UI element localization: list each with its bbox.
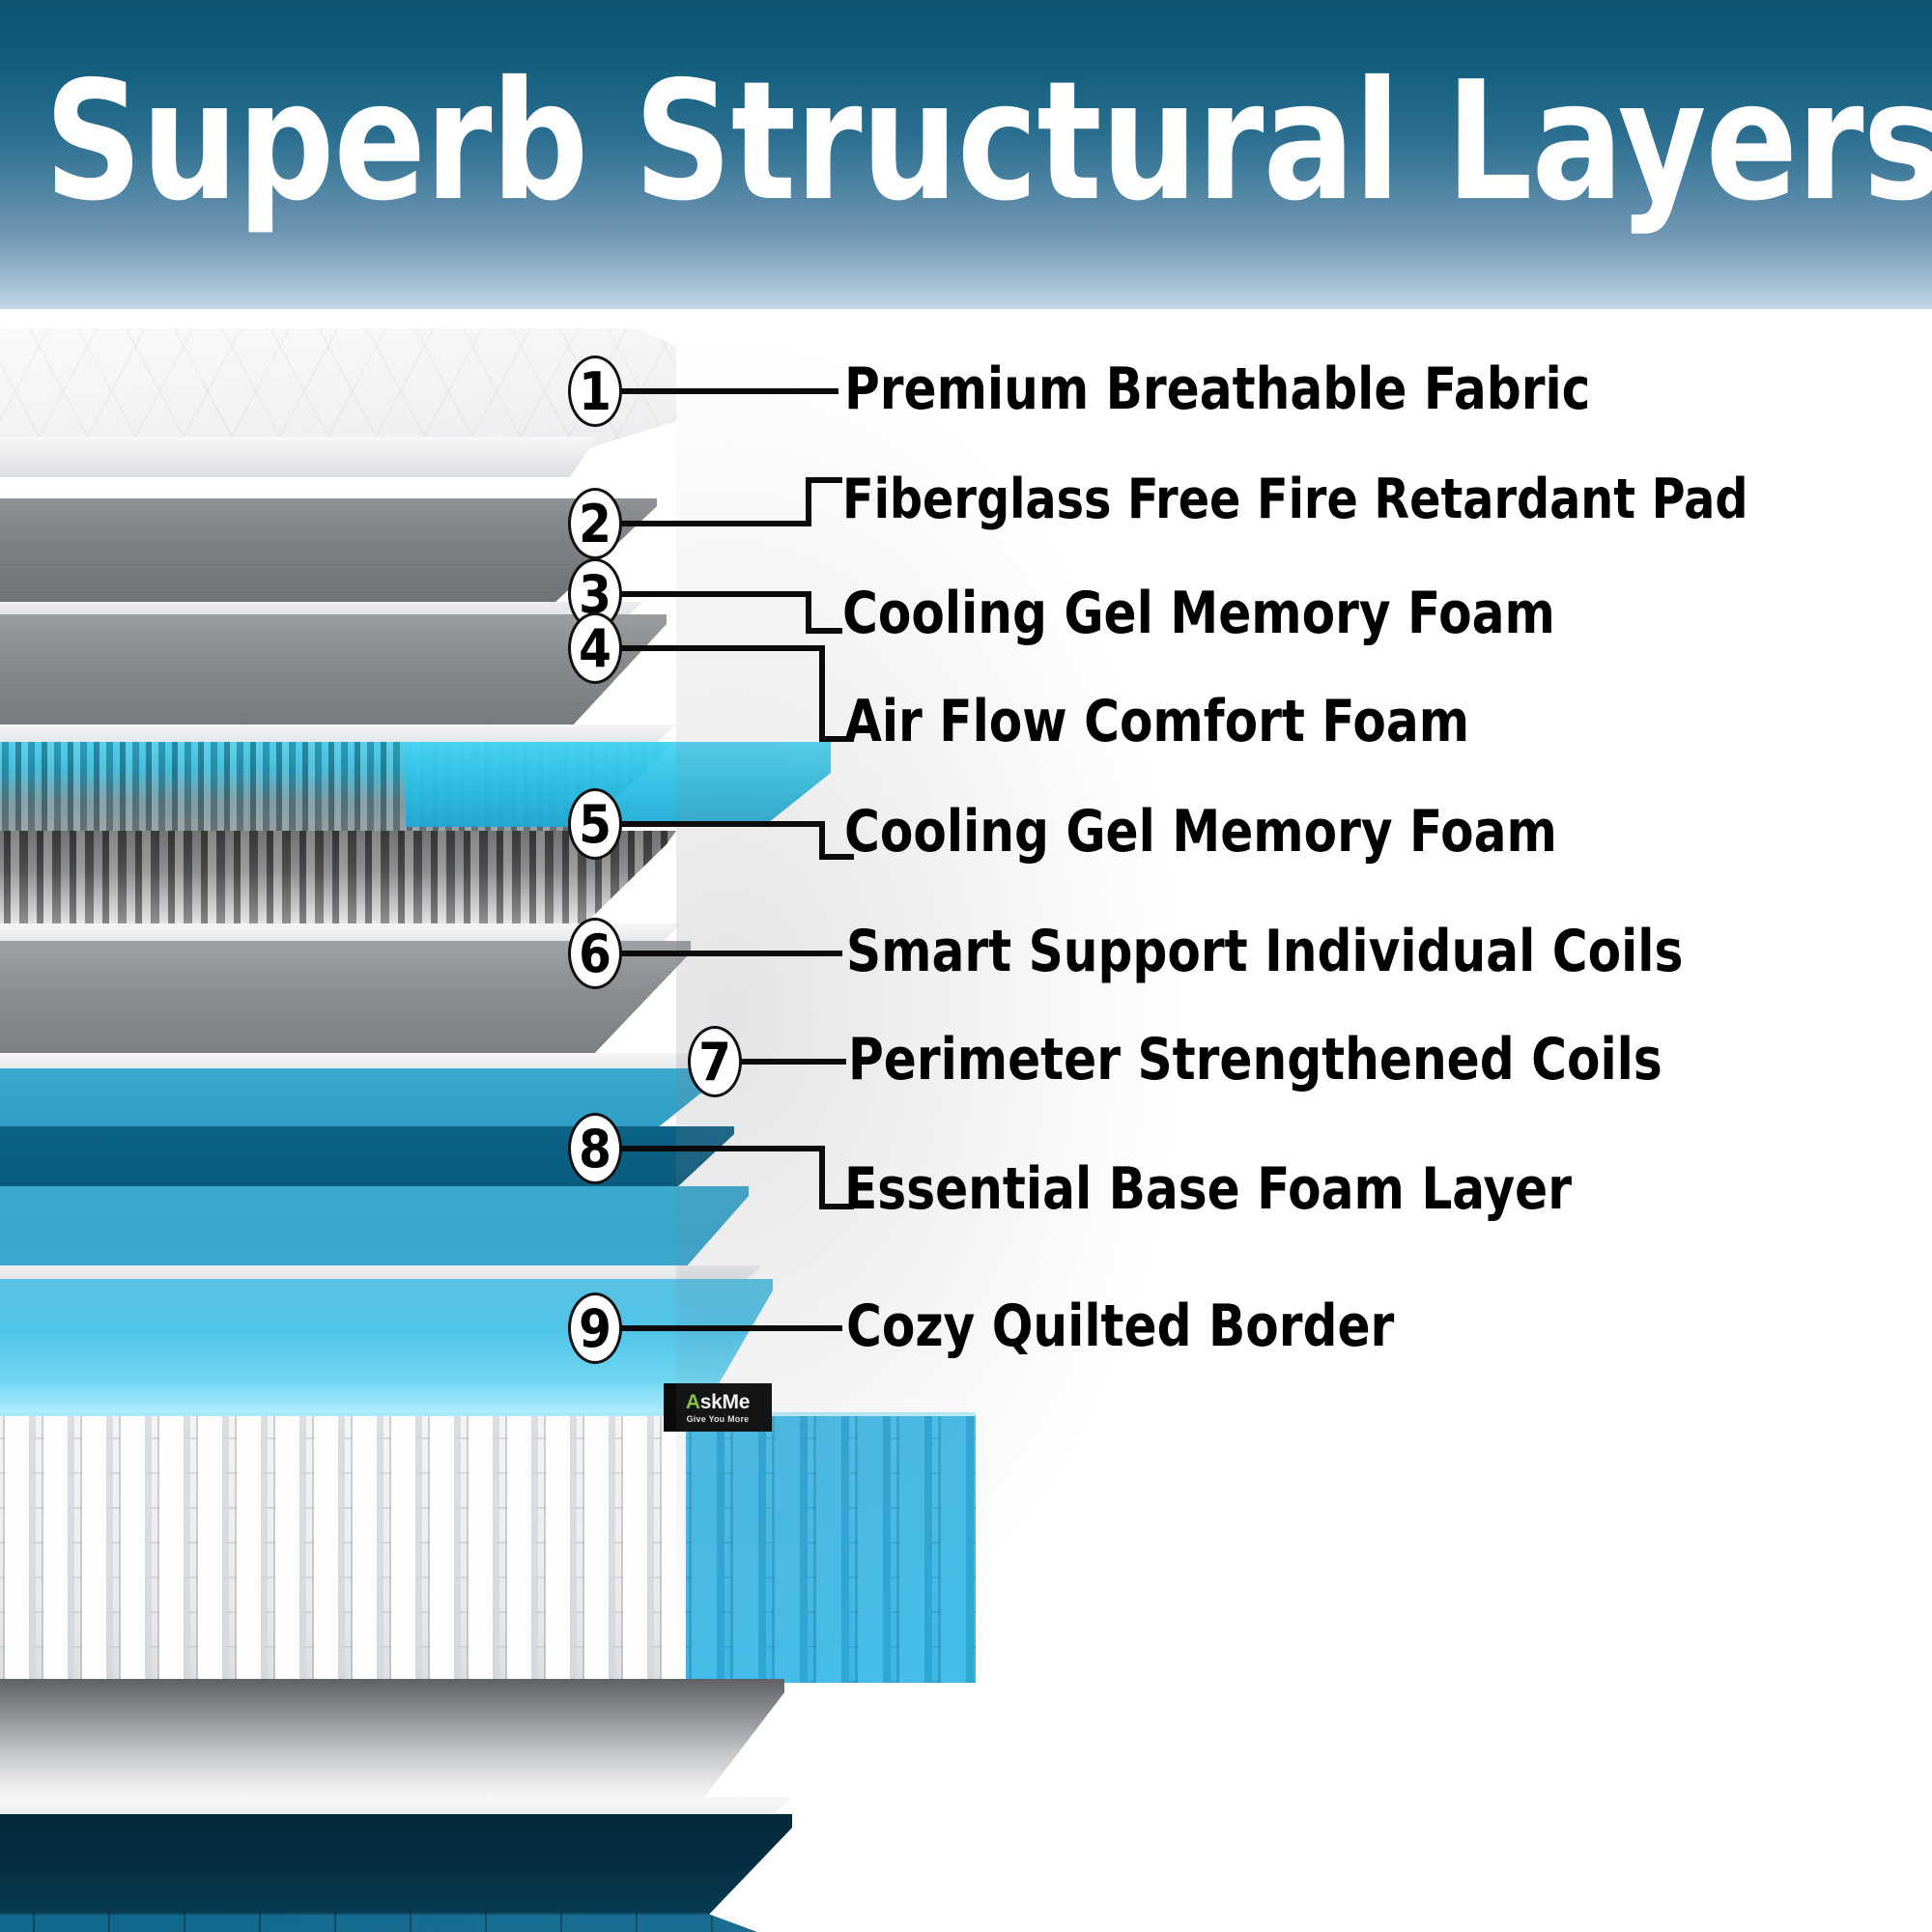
page-title: Superb Structural Layers (44, 50, 1932, 234)
layer-blue-foam-lower (0, 1186, 831, 1269)
callout-leader-7 (738, 1059, 846, 1065)
layer-premium-breathable-fabric-edge (0, 437, 831, 477)
callout-label-8: Essential Base Foam Layer (844, 1159, 1572, 1219)
callout-label-1: Premium Breathable Fabric (844, 359, 1590, 419)
callout-label-4: Air Flow Comfort Foam (844, 692, 1469, 752)
brand-name-rest: skMe (700, 1391, 750, 1413)
callout-number-5[interactable]: 5 (568, 788, 622, 860)
callout-leader-4-v (819, 645, 825, 742)
callout-leader-2-stub (806, 477, 842, 483)
header-banner: Superb Structural Layers (0, 0, 1932, 309)
layer-cozy-quilted-border (0, 1913, 908, 1932)
mattress-cross-section-illustration: AskMe Give You More (0, 309, 1024, 1932)
callout-leader-8-v (819, 1146, 825, 1209)
callout-leader-5-h (618, 821, 825, 827)
brand-tagline: Give You More (687, 1415, 750, 1424)
callout-leader-3-stub (806, 628, 842, 634)
callout-label-2: Fiberglass Free Fire Retardant Pad (842, 469, 1747, 529)
layer-air-flow-comfort-foam (0, 831, 831, 929)
callout-number-6[interactable]: 6 (568, 918, 622, 989)
callout-number-2[interactable]: 2 (568, 488, 622, 559)
brand-logo-badge: AskMe Give You More (664, 1383, 772, 1432)
callout-number-4[interactable]: 4 (568, 612, 622, 684)
infographic-canvas: Superb Structural Layers AskMe (0, 0, 1932, 1932)
callout-leader-8-h (618, 1146, 825, 1151)
brand-name: AskMe (686, 1392, 750, 1412)
callout-leader-6 (618, 951, 842, 956)
callout-number-8[interactable]: 8 (568, 1113, 622, 1184)
quilted-border-inner-top (0, 1814, 831, 1918)
callout-label-7: Perimeter Strengthened Coils (848, 1030, 1662, 1090)
callout-leader-2-h (618, 521, 811, 526)
brand-accent-letter: A (686, 1391, 700, 1413)
callout-label-9: Cozy Quilted Border (846, 1296, 1394, 1356)
callout-leader-2-v (806, 477, 811, 526)
callout-leader-4-h (618, 645, 825, 651)
callout-label-3: Cooling Gel Memory Foam (842, 583, 1555, 643)
layer-blue-foam-dark-band (0, 1126, 831, 1188)
callout-leader-9 (618, 1325, 842, 1331)
layer-essential-base-foam (0, 1679, 831, 1803)
callout-label-5: Cooling Gel Memory Foam (844, 802, 1557, 862)
layer-perimeter-strengthened-coils (686, 1416, 976, 1683)
callout-leader-3-h (618, 591, 811, 597)
layer-secondary-pad (0, 614, 831, 728)
callout-leader-1 (618, 388, 838, 394)
callout-number-9[interactable]: 9 (568, 1293, 622, 1364)
callout-number-1[interactable]: 1 (568, 355, 622, 427)
callout-number-7[interactable]: 7 (688, 1026, 742, 1097)
callout-label-6: Smart Support Individual Coils (846, 922, 1683, 981)
